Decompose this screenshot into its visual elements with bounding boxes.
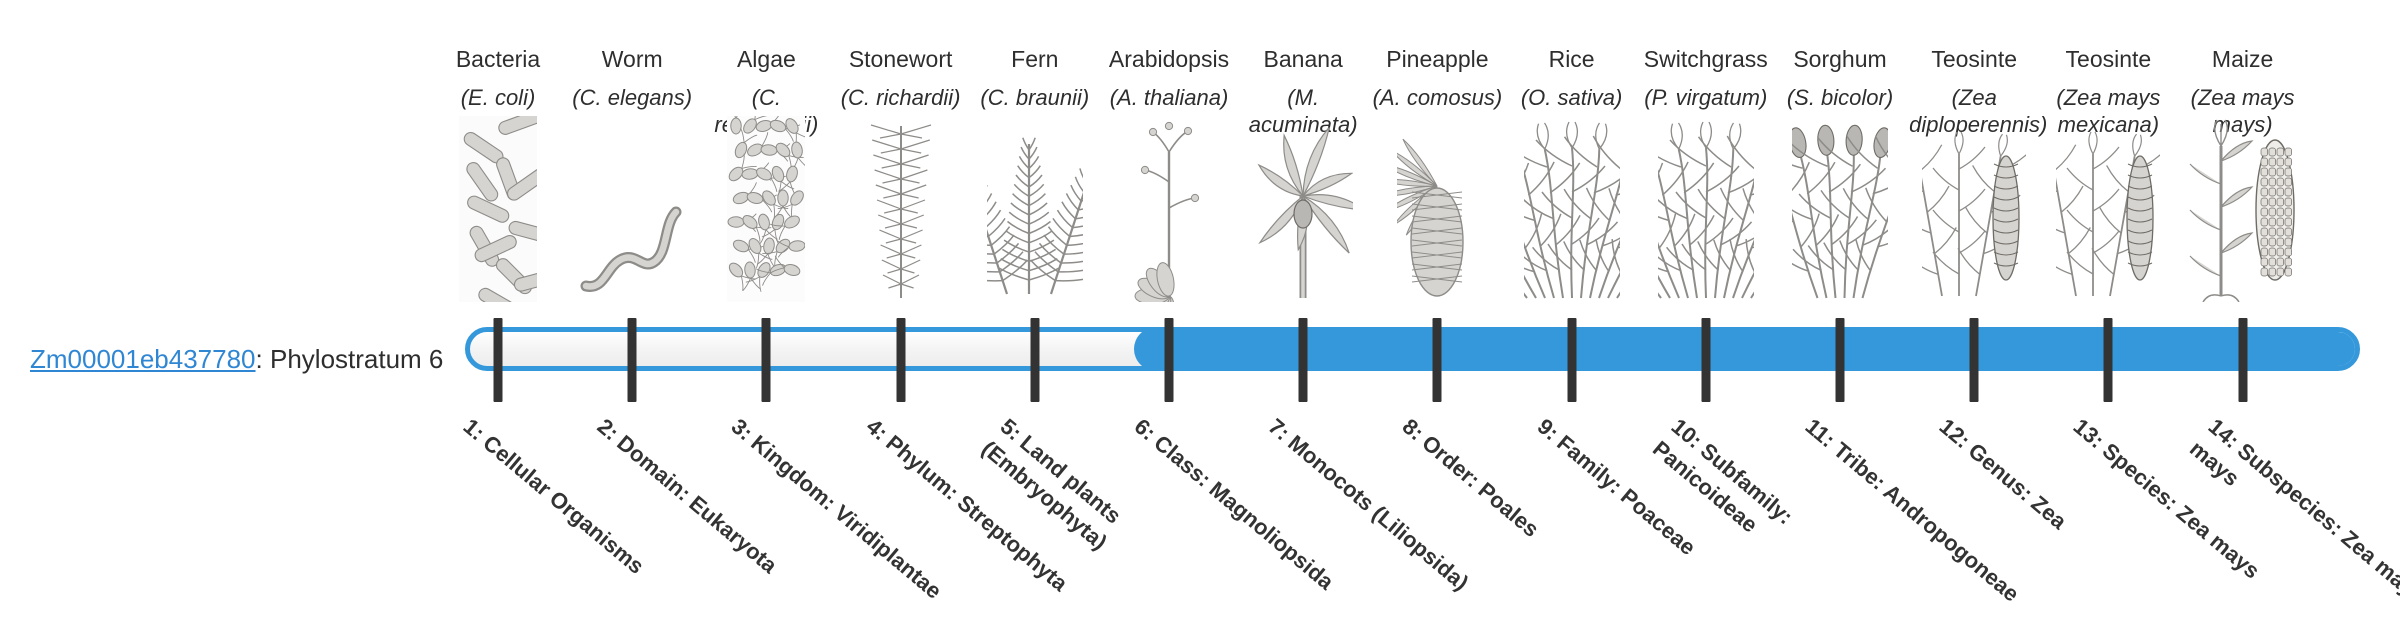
species-common-name: Teosinte — [2043, 44, 2173, 74]
species-latin-name: (A. thaliana) — [1104, 84, 1234, 111]
species-header: Switchgrass(P. virgatum) — [1641, 44, 1771, 111]
fern-icon — [987, 172, 1083, 302]
species-latin-name: (P. virgatum) — [1641, 84, 1771, 111]
species-header: Fern(C. braunii) — [970, 44, 1100, 111]
species-header: Arabidopsis(A. thaliana) — [1104, 44, 1234, 111]
species-latin-name: (C. elegans) — [567, 84, 697, 111]
species-latin-name: (C. richardii) — [836, 84, 966, 111]
sorghum-icon — [1792, 172, 1888, 302]
species-common-name: Sorghum — [1775, 44, 1905, 74]
species-common-name: Fern — [970, 44, 1100, 74]
phylostratum-progress-fill — [1134, 327, 2360, 371]
phylostratum-tick[interactable] — [1299, 318, 1308, 402]
phylostratum-tick[interactable] — [1701, 318, 1710, 402]
species-latin-name: (C. braunii) — [970, 84, 1100, 111]
pineapple-icon — [1397, 172, 1477, 302]
species-common-name: Arabidopsis — [1104, 44, 1234, 74]
phylostratum-label[interactable]: 8: Order: Poales — [1397, 412, 1630, 614]
species-common-name: Algae — [701, 44, 831, 74]
phylostratum-tick[interactable] — [1970, 318, 1979, 402]
algae-icon — [727, 172, 805, 302]
phylostratum-timeline-widget: Zm00001eb437780: Phylostratum 6 Bacteria… — [0, 0, 2400, 580]
species-common-name: Banana — [1238, 44, 1368, 74]
teosinte-mexicana-icon — [2056, 172, 2160, 302]
species-common-name: Switchgrass — [1641, 44, 1771, 74]
species-common-name: Teosinte — [1909, 44, 2039, 74]
phylostratum-tick[interactable] — [896, 318, 905, 402]
species-common-name: Bacteria — [433, 44, 563, 74]
phylostratum-label[interactable]: 7: Monocots (Liliopsida) — [1263, 412, 1496, 614]
phylostratum-tick[interactable] — [494, 318, 503, 402]
phylostratum-tick[interactable] — [628, 318, 637, 402]
species-header: Rice(O. sativa) — [1507, 44, 1637, 111]
species-common-name: Maize — [2178, 44, 2308, 74]
species-common-name: Pineapple — [1372, 44, 1502, 74]
phylostratum-tick[interactable] — [1165, 318, 1174, 402]
phylostratum-tick[interactable] — [2104, 318, 2113, 402]
phylostratum-label[interactable]: 2: Domain: Eukaryota — [592, 412, 825, 614]
rice-icon — [1524, 172, 1620, 302]
species-header: Bacteria(E. coli) — [433, 44, 563, 111]
species-header: Worm(C. elegans) — [567, 44, 697, 111]
banana-icon — [1253, 172, 1353, 302]
phylostratum-tick[interactable] — [1433, 318, 1442, 402]
phylostratum-label[interactable]: 3: Kingdom: Viridiplantae — [726, 412, 959, 614]
bacteria-icon — [459, 172, 537, 302]
phylostratum-label[interactable]: 1: Cellular Organisms — [457, 412, 690, 614]
phylostratum-label[interactable]: 12: Genus: Zea — [1934, 412, 2167, 614]
track-area: Bacteria(E. coli)1: Cellular OrganismsWo… — [0, 0, 2400, 580]
species-common-name: Stonewort — [836, 44, 966, 74]
species-header: Sorghum(S. bicolor) — [1775, 44, 1905, 111]
worm-icon — [580, 172, 684, 302]
species-header: Stonewort(C. richardii) — [836, 44, 966, 111]
phylostratum-tick[interactable] — [1030, 318, 1039, 402]
arabidopsis-icon — [1123, 172, 1215, 302]
phylostratum-tick[interactable] — [762, 318, 771, 402]
species-common-name: Worm — [567, 44, 697, 74]
species-common-name: Rice — [1507, 44, 1637, 74]
maize-icon — [2187, 172, 2299, 302]
teosinte-diploperennis-icon — [1922, 172, 2026, 302]
species-header: Pineapple(A. comosus) — [1372, 44, 1502, 111]
species-latin-name: (E. coli) — [433, 84, 563, 111]
species-latin-name: (A. comosus) — [1372, 84, 1502, 111]
species-latin-name: (O. sativa) — [1507, 84, 1637, 111]
phylostratum-progress-track[interactable] — [465, 327, 2360, 371]
switchgrass-icon — [1658, 172, 1754, 302]
phylostratum-tick[interactable] — [1836, 318, 1845, 402]
stonewort-icon — [863, 172, 939, 302]
species-latin-name: (S. bicolor) — [1775, 84, 1905, 111]
phylostratum-tick[interactable] — [2238, 318, 2247, 402]
phylostratum-tick[interactable] — [1567, 318, 1576, 402]
